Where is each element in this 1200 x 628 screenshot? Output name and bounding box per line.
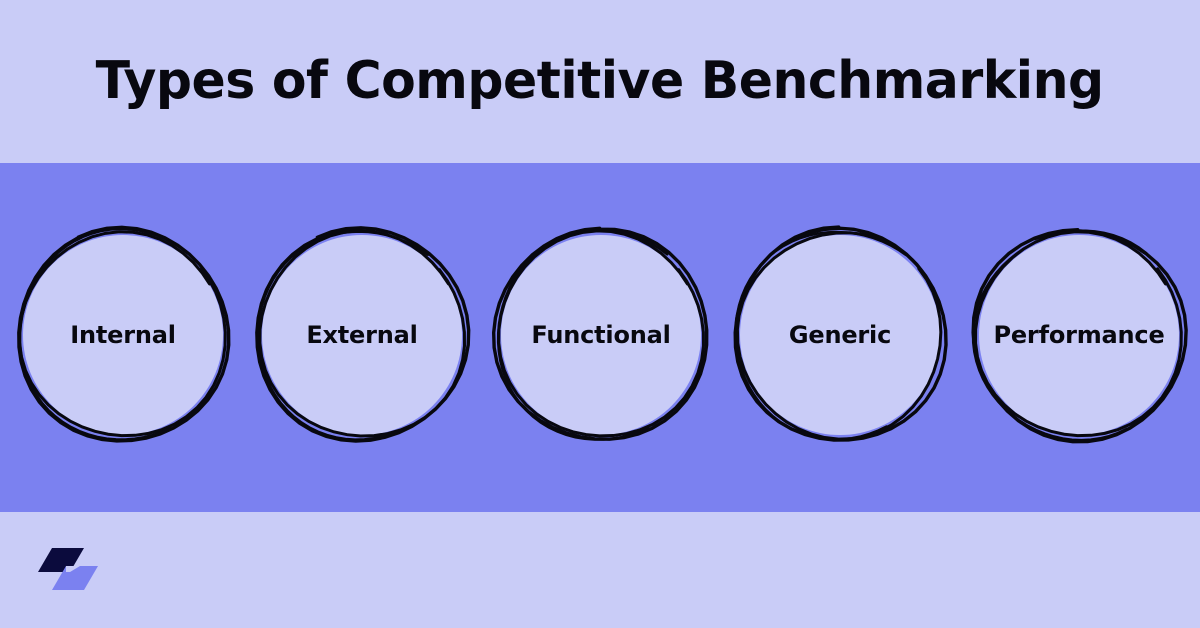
circle-fill — [262, 235, 462, 435]
benchmark-circle-functional[interactable]: Functional — [486, 220, 716, 450]
benchmark-circle-generic[interactable]: Generic — [725, 220, 955, 450]
circle-fill — [23, 235, 223, 435]
circle-fill — [740, 235, 940, 435]
circle-fill — [979, 235, 1179, 435]
circle-outline-icon — [247, 220, 477, 450]
circle-outline-icon — [8, 220, 238, 450]
title-area: Types of Competitive Benchmarking — [0, 0, 1200, 163]
infographic-canvas: Types of Competitive Benchmarking Intern… — [0, 0, 1200, 628]
benchmark-circle-performance[interactable]: Performance — [964, 220, 1194, 450]
circle-outline-icon — [964, 220, 1194, 450]
page-title: Types of Competitive Benchmarking — [96, 54, 1104, 109]
circle-fill — [501, 235, 701, 435]
brand-logo — [38, 546, 98, 592]
circle-outline-icon — [486, 220, 716, 450]
benchmark-circle-external[interactable]: External — [247, 220, 477, 450]
circle-row: InternalExternalFunctionalGenericPerform… — [0, 163, 1200, 512]
brand-logo-icon — [38, 546, 98, 592]
benchmark-circle-internal[interactable]: Internal — [8, 220, 238, 450]
circle-outline-icon — [725, 220, 955, 450]
